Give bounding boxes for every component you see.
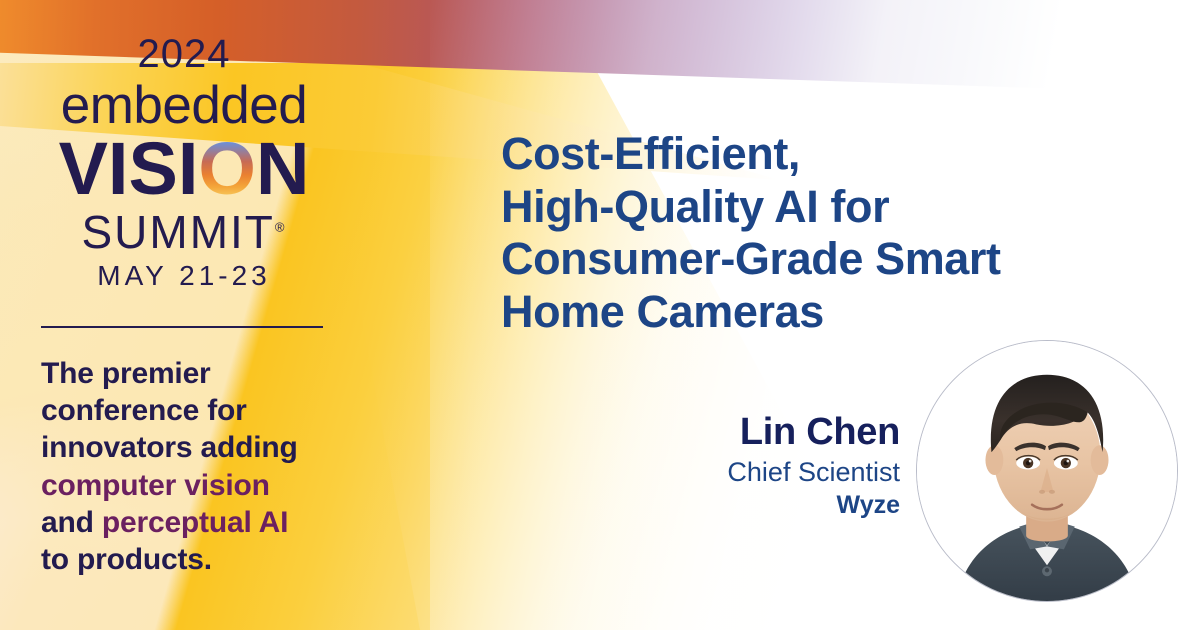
avatar bbox=[916, 340, 1178, 602]
logo-dates: MAY 21-23 bbox=[34, 260, 334, 292]
logo-vision-gradient-o: O bbox=[198, 132, 256, 206]
embedded-vision-summit-logo: 2024 embedded VISION SUMMIT® MAY 21-23 bbox=[34, 34, 334, 292]
speaker-info: Lin Chen Chief Scientist Wyze bbox=[600, 412, 900, 520]
event-promo-banner: 2024 embedded VISION SUMMIT® MAY 21-23 T… bbox=[0, 0, 1200, 630]
logo-summit-wrap: SUMMIT® bbox=[34, 206, 334, 256]
session-title-line-3: Consumer-Grade Smart bbox=[501, 233, 1161, 286]
speaker-headshot-illustration bbox=[917, 341, 1177, 601]
logo-vision-pre: VISI bbox=[59, 132, 199, 206]
divider-rule bbox=[41, 326, 323, 328]
logo-year: 2024 bbox=[34, 34, 334, 74]
logo-embedded: embedded bbox=[34, 78, 334, 134]
tagline-line-2: conference for bbox=[41, 394, 247, 427]
logo-vision-post: N bbox=[256, 132, 309, 206]
speaker-name: Lin Chen bbox=[600, 412, 900, 454]
speaker-organization: Wyze bbox=[600, 490, 900, 520]
tagline-line-6: to products. bbox=[41, 543, 212, 576]
event-tagline: The premier conference for innovators ad… bbox=[41, 355, 371, 578]
tagline-line-5-prefix: and bbox=[41, 506, 102, 539]
logo-summit-word: SUMMIT bbox=[81, 206, 274, 258]
tagline-highlight-perceptual-ai: perceptual AI bbox=[102, 506, 288, 539]
session-title-line-4: Home Cameras bbox=[501, 286, 1161, 339]
speaker-role: Chief Scientist bbox=[600, 456, 900, 488]
tagline-line-3: innovators adding bbox=[41, 431, 298, 464]
session-title-line-1: Cost-Efficient, bbox=[501, 128, 1161, 181]
tagline-highlight-computer-vision: computer vision bbox=[41, 469, 270, 502]
logo-summit: SUMMIT® bbox=[81, 208, 286, 256]
tagline-line-1: The premier bbox=[41, 357, 211, 390]
registered-mark-icon: ® bbox=[275, 219, 287, 234]
logo-vision: VISION bbox=[34, 132, 334, 206]
session-title-line-2: High-Quality AI for bbox=[501, 181, 1161, 234]
session-title: Cost-Efficient, High-Quality AI for Cons… bbox=[501, 128, 1161, 339]
